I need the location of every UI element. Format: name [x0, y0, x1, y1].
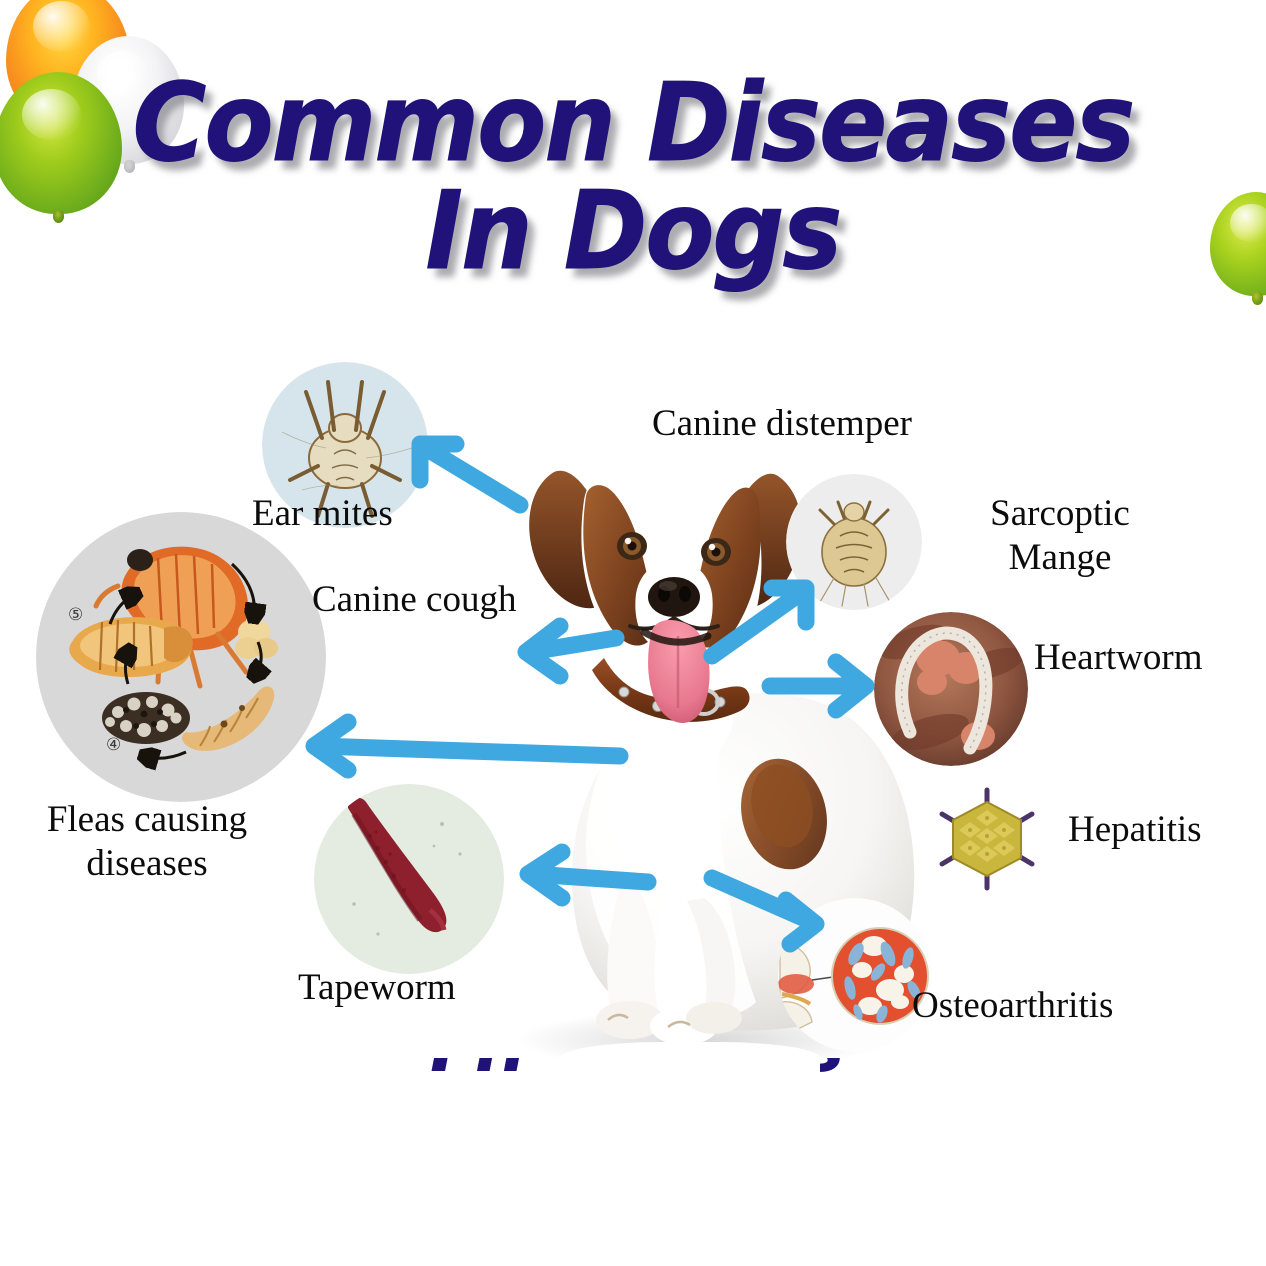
balloon-white-icon — [72, 36, 184, 164]
label-heartworm: Heartworm — [1034, 636, 1203, 680]
label-ear-mites: Ear mites — [252, 492, 393, 536]
label-fleas: Fleas causing diseases — [22, 798, 272, 885]
balloon-green-icon — [0, 72, 122, 214]
balloon-orange-icon — [6, 0, 130, 126]
flea-life-cycle-icon: ⑤ ④ — [36, 512, 326, 802]
adenovirus-hepatitis-icon — [928, 780, 1046, 898]
infographic-poster: Common Diseases In Dogs — [0, 0, 1266, 1266]
label-sarcoptic-mange: Sarcoptic Mange — [946, 492, 1174, 579]
label-tapeworm: Tapeworm — [298, 966, 456, 1010]
label-canine-cough: Canine cough — [312, 578, 516, 622]
svg-text:④: ④ — [106, 735, 121, 755]
balloon-edge-green-icon — [1210, 192, 1266, 296]
title-line-2: In Dogs — [44, 180, 1221, 284]
heartworm-icon — [874, 612, 1028, 766]
label-canine-distemper: Canine distemper — [652, 402, 912, 446]
label-hepatitis: Hepatitis — [1068, 808, 1202, 852]
tapeworm-icon — [314, 784, 504, 974]
bottom-white-area — [0, 1074, 1266, 1266]
poster-title: Common Diseases In Dogs — [0, 72, 1266, 283]
joint-cartilage-icon — [778, 898, 932, 1052]
svg-text:⑤: ⑤ — [68, 605, 83, 625]
label-osteoarthritis: Osteoarthritis — [912, 984, 1113, 1028]
title-line-1: Common Diseases — [44, 72, 1221, 176]
sarcoptes-mite-icon — [786, 474, 922, 610]
